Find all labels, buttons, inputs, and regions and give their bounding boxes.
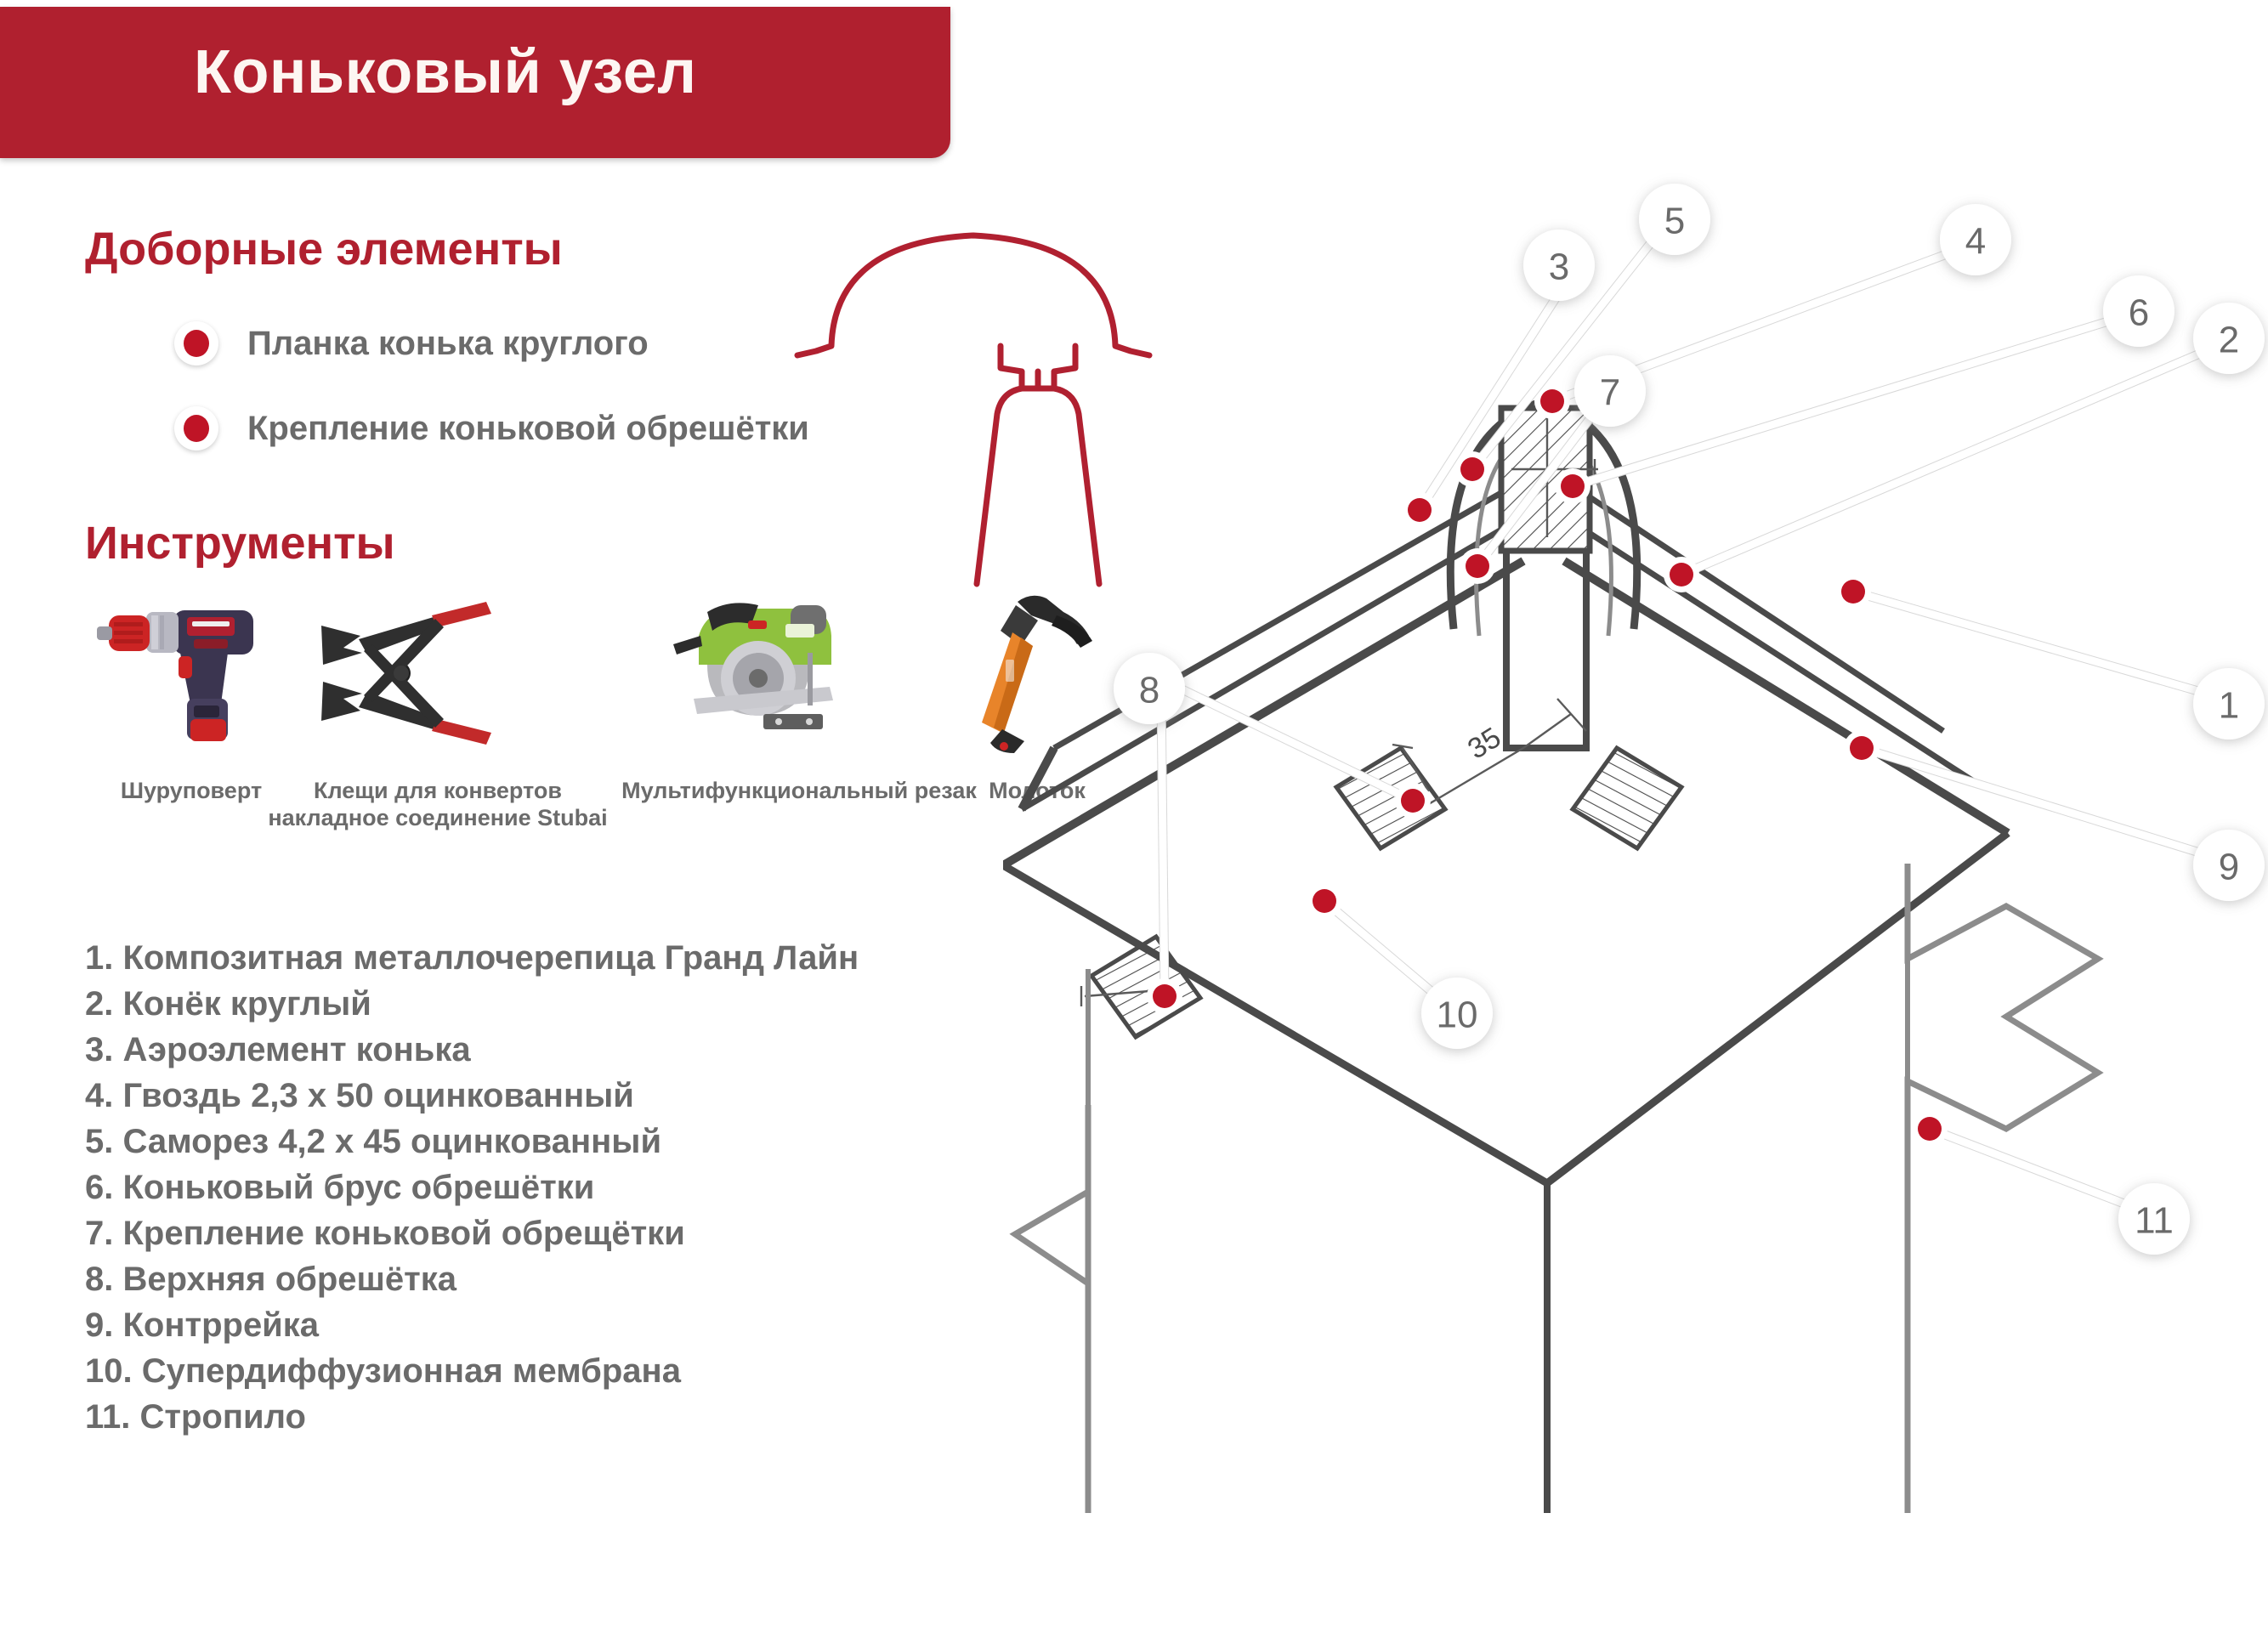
- legend-item: 6. Коньковый брус обрешётки: [85, 1164, 1105, 1210]
- tool-item: Мультифункциональный резак: [663, 586, 876, 909]
- batten-right: [1573, 748, 1681, 848]
- accessories-heading: Доборные элементы: [85, 223, 563, 275]
- callout-number: 11: [2135, 1200, 2174, 1242]
- callout-number: 9: [2219, 847, 2239, 888]
- legend-item: 8. Верхняя обрешётка: [85, 1256, 1105, 1302]
- legend-item: 3. Аэроэлемент конька: [85, 1027, 1105, 1073]
- legend-item: 9. Контррейка: [85, 1302, 1105, 1348]
- poster-root: Коньковый узел Доборные элементы Планка …: [0, 0, 2268, 1632]
- legend-item: 7. Крепление коньковой обрещётки: [85, 1210, 1105, 1256]
- legend-item: 11. Стропило: [85, 1394, 1105, 1440]
- seaming-pliers-icon: [306, 586, 519, 761]
- tools-heading: Инструменты: [85, 517, 395, 569]
- callout-number: 7: [1600, 372, 1620, 414]
- accessory-label: Планка конька круглого: [247, 325, 649, 363]
- callout-number: 1: [2219, 685, 2239, 727]
- ridge-assembly-drawing: 35 4 5: [1003, 153, 2268, 1513]
- callout-10[interactable]: 10: [1307, 883, 1493, 1049]
- callout-6[interactable]: 6: [1555, 275, 2174, 504]
- callout-11[interactable]: 11: [1912, 1111, 2190, 1255]
- cordless-drill-icon: [85, 586, 298, 761]
- accessory-item: Крепление коньковой обрешётки: [174, 406, 809, 450]
- callout-1[interactable]: 1: [1835, 574, 2265, 739]
- legend-item: 2. Конёк круглый: [85, 981, 1105, 1027]
- callout-number: 8: [1139, 670, 1160, 711]
- circular-saw-icon: [663, 586, 876, 761]
- page-title: Коньковый узел: [194, 37, 696, 107]
- callout-number: 6: [2129, 292, 2149, 334]
- header-banner: Коньковый узел: [0, 7, 950, 158]
- callout-2[interactable]: 2: [1664, 303, 2265, 592]
- tool-item: Шуруповерт: [85, 586, 298, 909]
- dimension-label: 35: [1462, 722, 1506, 766]
- callout-number: 2: [2219, 320, 2239, 361]
- accessory-item: Планка конька круглого: [174, 321, 649, 365]
- callout-number: 10: [1437, 994, 1478, 1036]
- batten-lower-left: [1081, 937, 1200, 1037]
- callout-number: 3: [1549, 246, 1569, 288]
- legend-item: 1. Композитная металлочерепица Гранд Лай…: [85, 935, 1105, 981]
- tool-item: Клещи для конвертов накладное соединение…: [306, 586, 519, 909]
- tool-caption: Клещи для конвертов накладное соединение…: [268, 778, 608, 832]
- legend-list: 1. Композитная металлочерепица Гранд Лай…: [85, 935, 1105, 1440]
- legend-item: 4. Гвоздь 2,3 х 50 оцинкованный: [85, 1073, 1105, 1119]
- callout-number: 5: [1664, 201, 1685, 242]
- accessory-label: Крепление коньковой обрешётки: [247, 410, 809, 448]
- legend-item: 10. Супердиффузионная мембрана: [85, 1348, 1105, 1394]
- legend-item: 5. Саморез 4,2 х 45 оцинкованный: [85, 1119, 1105, 1164]
- callout-number: 4: [1965, 221, 1986, 263]
- bullet-dot-icon: [174, 406, 218, 450]
- roof-underside: [1003, 833, 2008, 1513]
- bullet-dot-icon: [174, 321, 218, 365]
